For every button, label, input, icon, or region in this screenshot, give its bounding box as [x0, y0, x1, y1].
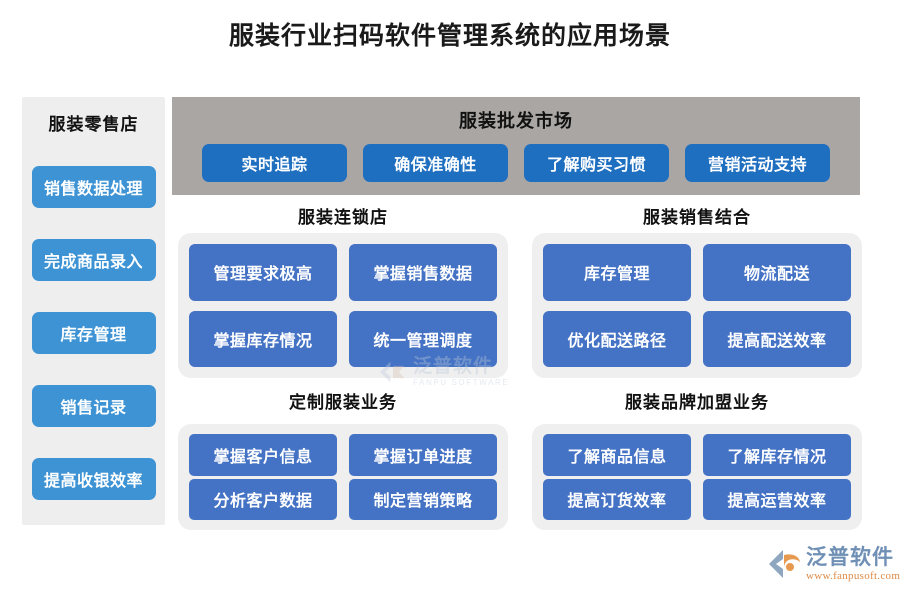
panel-item-grasp-customer-info[interactable]: 掌握客户信息: [189, 434, 337, 476]
panel-grid: 管理要求极高 掌握销售数据 掌握库存情况 统一管理调度: [178, 233, 508, 378]
panel-grid: 了解商品信息 了解库存情况 提高订货效率 提高运营效率: [532, 424, 862, 530]
sidebar-item-wrap: 销售数据处理: [22, 166, 165, 208]
topbar-title: 服装批发市场: [172, 97, 860, 133]
topbar-item-buying-habits[interactable]: 了解购买习惯: [524, 144, 669, 182]
topbar-item-accuracy[interactable]: 确保准确性: [363, 144, 508, 182]
panel-item-marketing-strategy[interactable]: 制定营销策略: [349, 479, 497, 521]
panel-sales-integration: 库存管理 物流配送 优化配送路径 提高配送效率: [532, 233, 862, 378]
topbar-wholesale-market: 服装批发市场 实时追踪 确保准确性 了解购买习惯 营销活动支持: [172, 97, 860, 195]
sidebar-item-inventory[interactable]: 库存管理: [32, 312, 156, 354]
logo-name-cn: 泛普软件: [806, 547, 900, 568]
panel-item-grasp-sales-data[interactable]: 掌握销售数据: [349, 244, 497, 301]
sidebar-item-wrap: 库存管理: [22, 312, 165, 354]
panel-grid: 掌握客户信息 掌握订单进度 分析客户数据 制定营销策略: [178, 424, 508, 530]
panel-item-grasp-order-progress[interactable]: 掌握订单进度: [349, 434, 497, 476]
sidebar-item-sales-record[interactable]: 销售记录: [32, 385, 156, 427]
topbar-item-marketing-support[interactable]: 营销活动支持: [685, 144, 830, 182]
panel-item-know-product-info[interactable]: 了解商品信息: [543, 434, 691, 476]
panel-heading-custom-apparel: 定制服装业务: [178, 388, 508, 413]
watermark-name-en: FANPU SOFTWARE: [413, 379, 509, 387]
panel-item-inventory-management[interactable]: 库存管理: [543, 244, 691, 301]
panel-item-management-requirements[interactable]: 管理要求极高: [189, 244, 337, 301]
panel-item-improve-ordering-efficiency[interactable]: 提高订货效率: [543, 479, 691, 521]
panel-custom-apparel: 掌握客户信息 掌握订单进度 分析客户数据 制定营销策略: [178, 424, 508, 530]
sidebar-title: 服装零售店: [22, 97, 165, 135]
panel-grid: 库存管理 物流配送 优化配送路径 提高配送效率: [532, 233, 862, 378]
panel-item-analyze-customer-data[interactable]: 分析客户数据: [189, 479, 337, 521]
topbar-button-row: 实时追踪 确保准确性 了解购买习惯 营销活动支持: [172, 133, 860, 182]
sidebar-item-wrap: 销售记录: [22, 385, 165, 427]
sidebar-item-wrap: 提高收银效率: [22, 458, 165, 500]
panel-item-improve-delivery-efficiency[interactable]: 提高配送效率: [703, 311, 851, 368]
panel-item-know-inventory[interactable]: 了解库存情况: [703, 434, 851, 476]
panel-item-unified-dispatch[interactable]: 统一管理调度: [349, 311, 497, 368]
panel-brand-franchise: 了解商品信息 了解库存情况 提高订货效率 提高运营效率: [532, 424, 862, 530]
panel-item-optimize-delivery-route[interactable]: 优化配送路径: [543, 311, 691, 368]
panel-heading-brand-franchise: 服装品牌加盟业务: [532, 388, 862, 413]
panel-heading-sales-integration: 服装销售结合: [532, 203, 862, 228]
sidebar-item-cashier-efficiency[interactable]: 提高收银效率: [32, 458, 156, 500]
panel-heading-chain-store: 服装连锁店: [178, 203, 508, 228]
sidebar-item-wrap: 完成商品录入: [22, 239, 165, 281]
fanpu-logo: 泛普软件 www.fanpusoft.com: [768, 540, 894, 588]
sidebar-item-sales-data[interactable]: 销售数据处理: [32, 166, 156, 208]
panel-item-grasp-inventory[interactable]: 掌握库存情况: [189, 311, 337, 368]
sidebar-item-product-entry[interactable]: 完成商品录入: [32, 239, 156, 281]
page-title: 服装行业扫码软件管理系统的应用场景: [0, 16, 900, 52]
topbar-item-realtime-tracking[interactable]: 实时追踪: [202, 144, 347, 182]
panel-chain-store: 管理要求极高 掌握销售数据 掌握库存情况 统一管理调度: [178, 233, 508, 378]
panel-item-improve-operation-efficiency[interactable]: 提高运营效率: [703, 479, 851, 521]
sidebar-retail-store: 服装零售店 销售数据处理 完成商品录入 库存管理 销售记录 提高收银效率: [22, 97, 165, 525]
fanpu-logo-icon: [768, 548, 802, 580]
logo-url: www.fanpusoft.com: [806, 571, 900, 582]
logo-text: 泛普软件 www.fanpusoft.com: [806, 547, 900, 582]
panel-item-logistics-delivery[interactable]: 物流配送: [703, 244, 851, 301]
